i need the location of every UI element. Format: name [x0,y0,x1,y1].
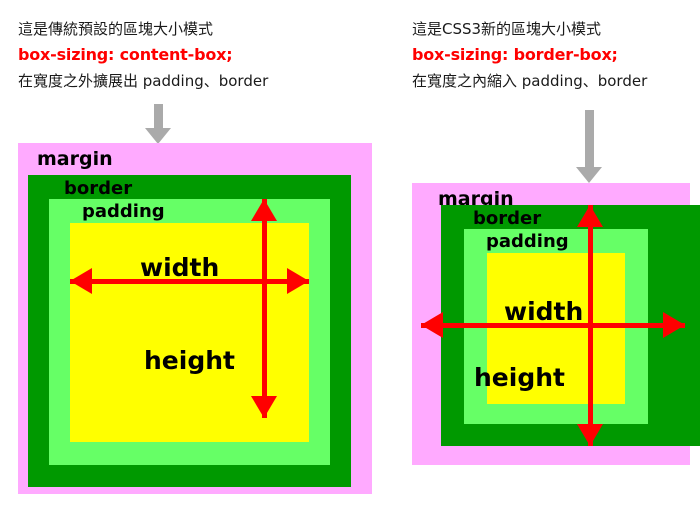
left-height-label: height [144,346,235,375]
arrow-head [576,167,602,183]
arrow-line [588,205,593,446]
right-margin-box: margin border padding width height [412,183,690,465]
arrow-head-bottom [577,424,603,446]
arrow-head-bottom [251,396,277,418]
right-padding-label: padding [486,231,569,252]
caption-right-line1: 這是CSS3新的區塊大小模式 [412,16,647,42]
arrow-head-left [70,268,92,294]
arrow-stem [154,104,163,129]
diagram-canvas: 這是傳統預設的區塊大小模式 box-sizing: content-box; 在… [0,0,700,514]
caption-right-line3: 在寬度之內縮入 padding、border [412,68,647,94]
down-arrow-icon [576,110,603,184]
arrow-head-right [287,268,309,294]
left-margin-label: margin [37,148,113,170]
arrow-head-right [663,312,685,338]
caption-left-line3: 在寬度之外擴展出 padding、border [18,68,268,94]
left-padding-box: padding [49,199,330,465]
left-border-box: border padding [28,175,351,487]
caption-content-box: 這是傳統預設的區塊大小模式 box-sizing: content-box; 在… [18,16,268,94]
arrow-head-left [421,312,443,338]
left-padding-label: padding [82,201,165,222]
arrow-stem [585,110,594,168]
caption-border-box: 這是CSS3新的區塊大小模式 box-sizing: border-box; 在… [412,16,647,94]
right-height-label: height [474,363,565,392]
down-arrow-icon [145,104,172,144]
caption-left-line1: 這是傳統預設的區塊大小模式 [18,16,268,42]
right-border-label: border [473,208,541,229]
arrow-line [262,199,267,418]
left-width-label: width [140,253,219,282]
left-margin-box: margin border padding width height [18,143,372,494]
caption-right-code: box-sizing: border-box; [412,42,647,68]
right-width-label: width [504,297,583,326]
arrow-head [145,128,171,144]
caption-left-code: box-sizing: content-box; [18,42,268,68]
arrow-head-top [577,205,603,227]
arrow-head-top [251,199,277,221]
left-border-label: border [64,178,132,199]
